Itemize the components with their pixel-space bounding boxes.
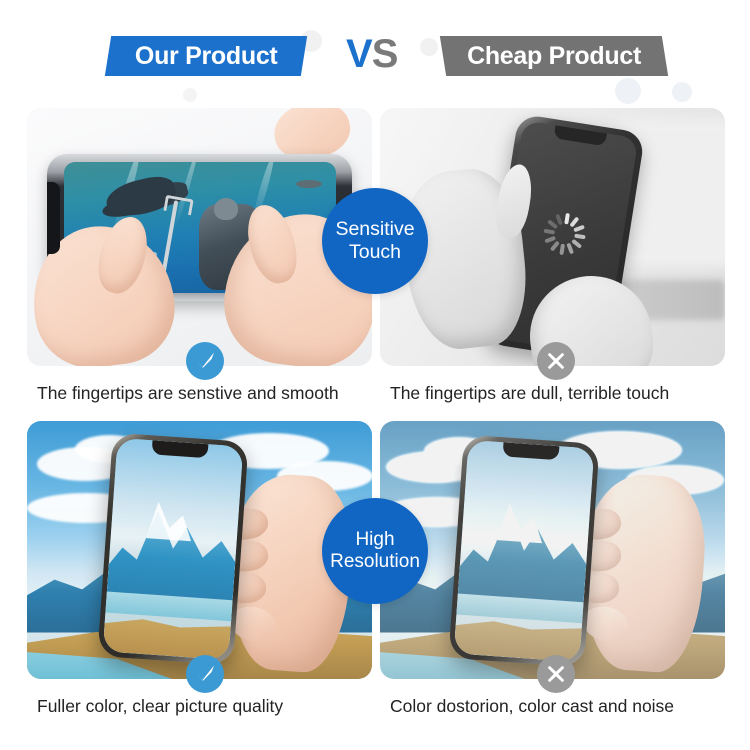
- cheap-product-banner: Cheap Product: [440, 36, 668, 76]
- badge-sensitive-touch: Sensitive Touch: [322, 188, 428, 294]
- badge-resolution-line2: Resolution: [330, 551, 420, 573]
- loading-spinner-icon: [541, 210, 589, 258]
- our-product-label: Our Product: [135, 42, 278, 71]
- badge-high-resolution: High Resolution: [322, 498, 428, 604]
- versus-s: S: [372, 32, 398, 76]
- badge-sensitive-line1: Sensitive: [335, 218, 414, 241]
- scene-mountain-washed: [380, 421, 725, 679]
- decorative-circle: [672, 82, 692, 102]
- scene-loading-phone: [380, 108, 725, 366]
- cross-icon: [537, 342, 575, 380]
- panel-top-right: [380, 108, 725, 366]
- panel-bottom-right: [380, 421, 725, 679]
- phone-notch: [553, 125, 606, 146]
- cheap-product-label: Cheap Product: [467, 42, 641, 71]
- scene-mountain-vivid: [27, 421, 372, 679]
- phone-portrait: [448, 435, 599, 668]
- phone-screen: [454, 440, 595, 662]
- caption-top-right: The fingertips are dull, terrible touch: [390, 383, 669, 404]
- panel-top-left: [27, 108, 372, 366]
- caption-top-left: The fingertips are senstive and smooth: [37, 383, 339, 404]
- cross-icon: [537, 655, 575, 693]
- badge-sensitive-line2: Touch: [349, 241, 401, 264]
- phone-portrait: [97, 433, 248, 666]
- decorative-circle: [615, 78, 641, 104]
- game-fish: [296, 180, 322, 188]
- check-icon: [186, 342, 224, 380]
- game-diver-head: [214, 198, 238, 220]
- header-banner-bar: Our Product VS Cheap Product: [0, 0, 750, 102]
- versus-label: VS: [346, 32, 397, 77]
- decorative-circle: [420, 38, 438, 56]
- decorative-circle: [183, 88, 197, 102]
- light-ray: [173, 162, 200, 227]
- scene-underwater-game: [27, 108, 372, 366]
- versus-v: V: [346, 32, 372, 76]
- caption-bottom-right: Color dostorion, color cast and noise: [390, 696, 674, 717]
- panel-bottom-left: [27, 421, 372, 679]
- caption-bottom-left: Fuller color, clear picture quality: [37, 696, 283, 717]
- phone-screen: [103, 438, 244, 660]
- badge-resolution-line1: High: [355, 529, 394, 551]
- check-icon: [186, 655, 224, 693]
- our-product-banner: Our Product: [105, 36, 307, 76]
- phone-notch: [47, 182, 60, 254]
